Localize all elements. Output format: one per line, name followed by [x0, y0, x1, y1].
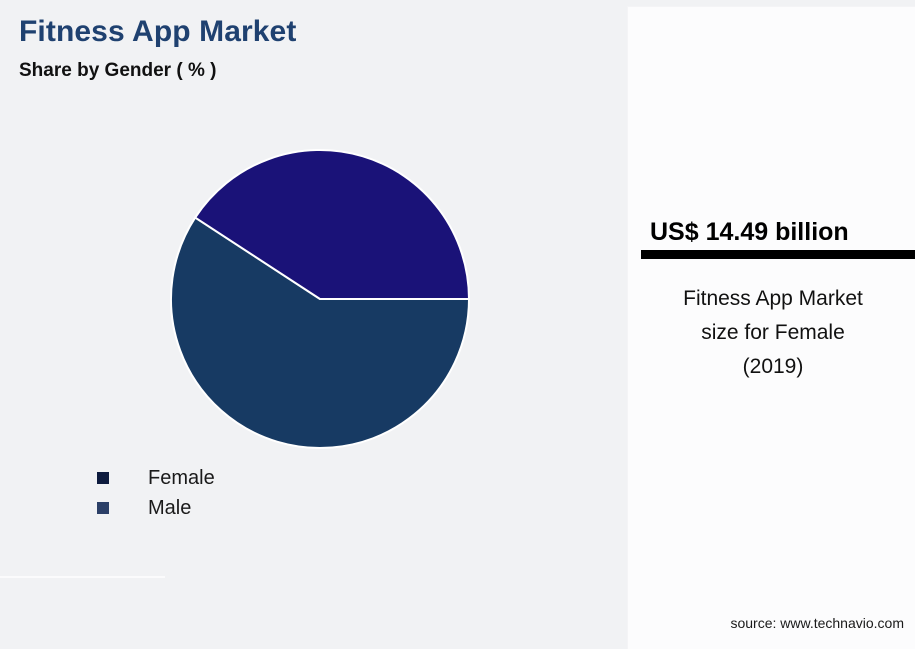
callout-panel: US$ 14.49 billion Fitness App Market siz…	[627, 6, 915, 649]
source-note: source: www.technavio.com	[628, 615, 904, 631]
legend-label-male: Male	[148, 498, 191, 518]
kpi-caption-line-2: size for Female	[642, 316, 904, 350]
legend-swatch-female	[97, 472, 109, 484]
chart-legend: Female Male	[97, 463, 397, 523]
kpi-caption: Fitness App Market size for Female (2019…	[642, 282, 904, 385]
chart-panel: Fitness App Market Share by Gender ( % )…	[0, 0, 627, 648]
pie-chart-svg	[0, 0, 627, 470]
legend-label-female: Female	[148, 468, 215, 488]
kpi-caption-line-1: Fitness App Market	[642, 282, 904, 316]
kpi-divider	[641, 250, 915, 259]
legend-item-female[interactable]: Female	[97, 463, 397, 493]
pie-chart	[0, 0, 627, 470]
kpi-value: US$ 14.49 billion	[650, 218, 849, 247]
chart-page: Fitness App Market Share by Gender ( % )…	[0, 0, 915, 648]
legend-swatch-male	[97, 502, 109, 514]
baseline-divider	[0, 576, 165, 578]
kpi-caption-line-3: (2019)	[642, 350, 904, 384]
legend-item-male[interactable]: Male	[97, 493, 397, 523]
